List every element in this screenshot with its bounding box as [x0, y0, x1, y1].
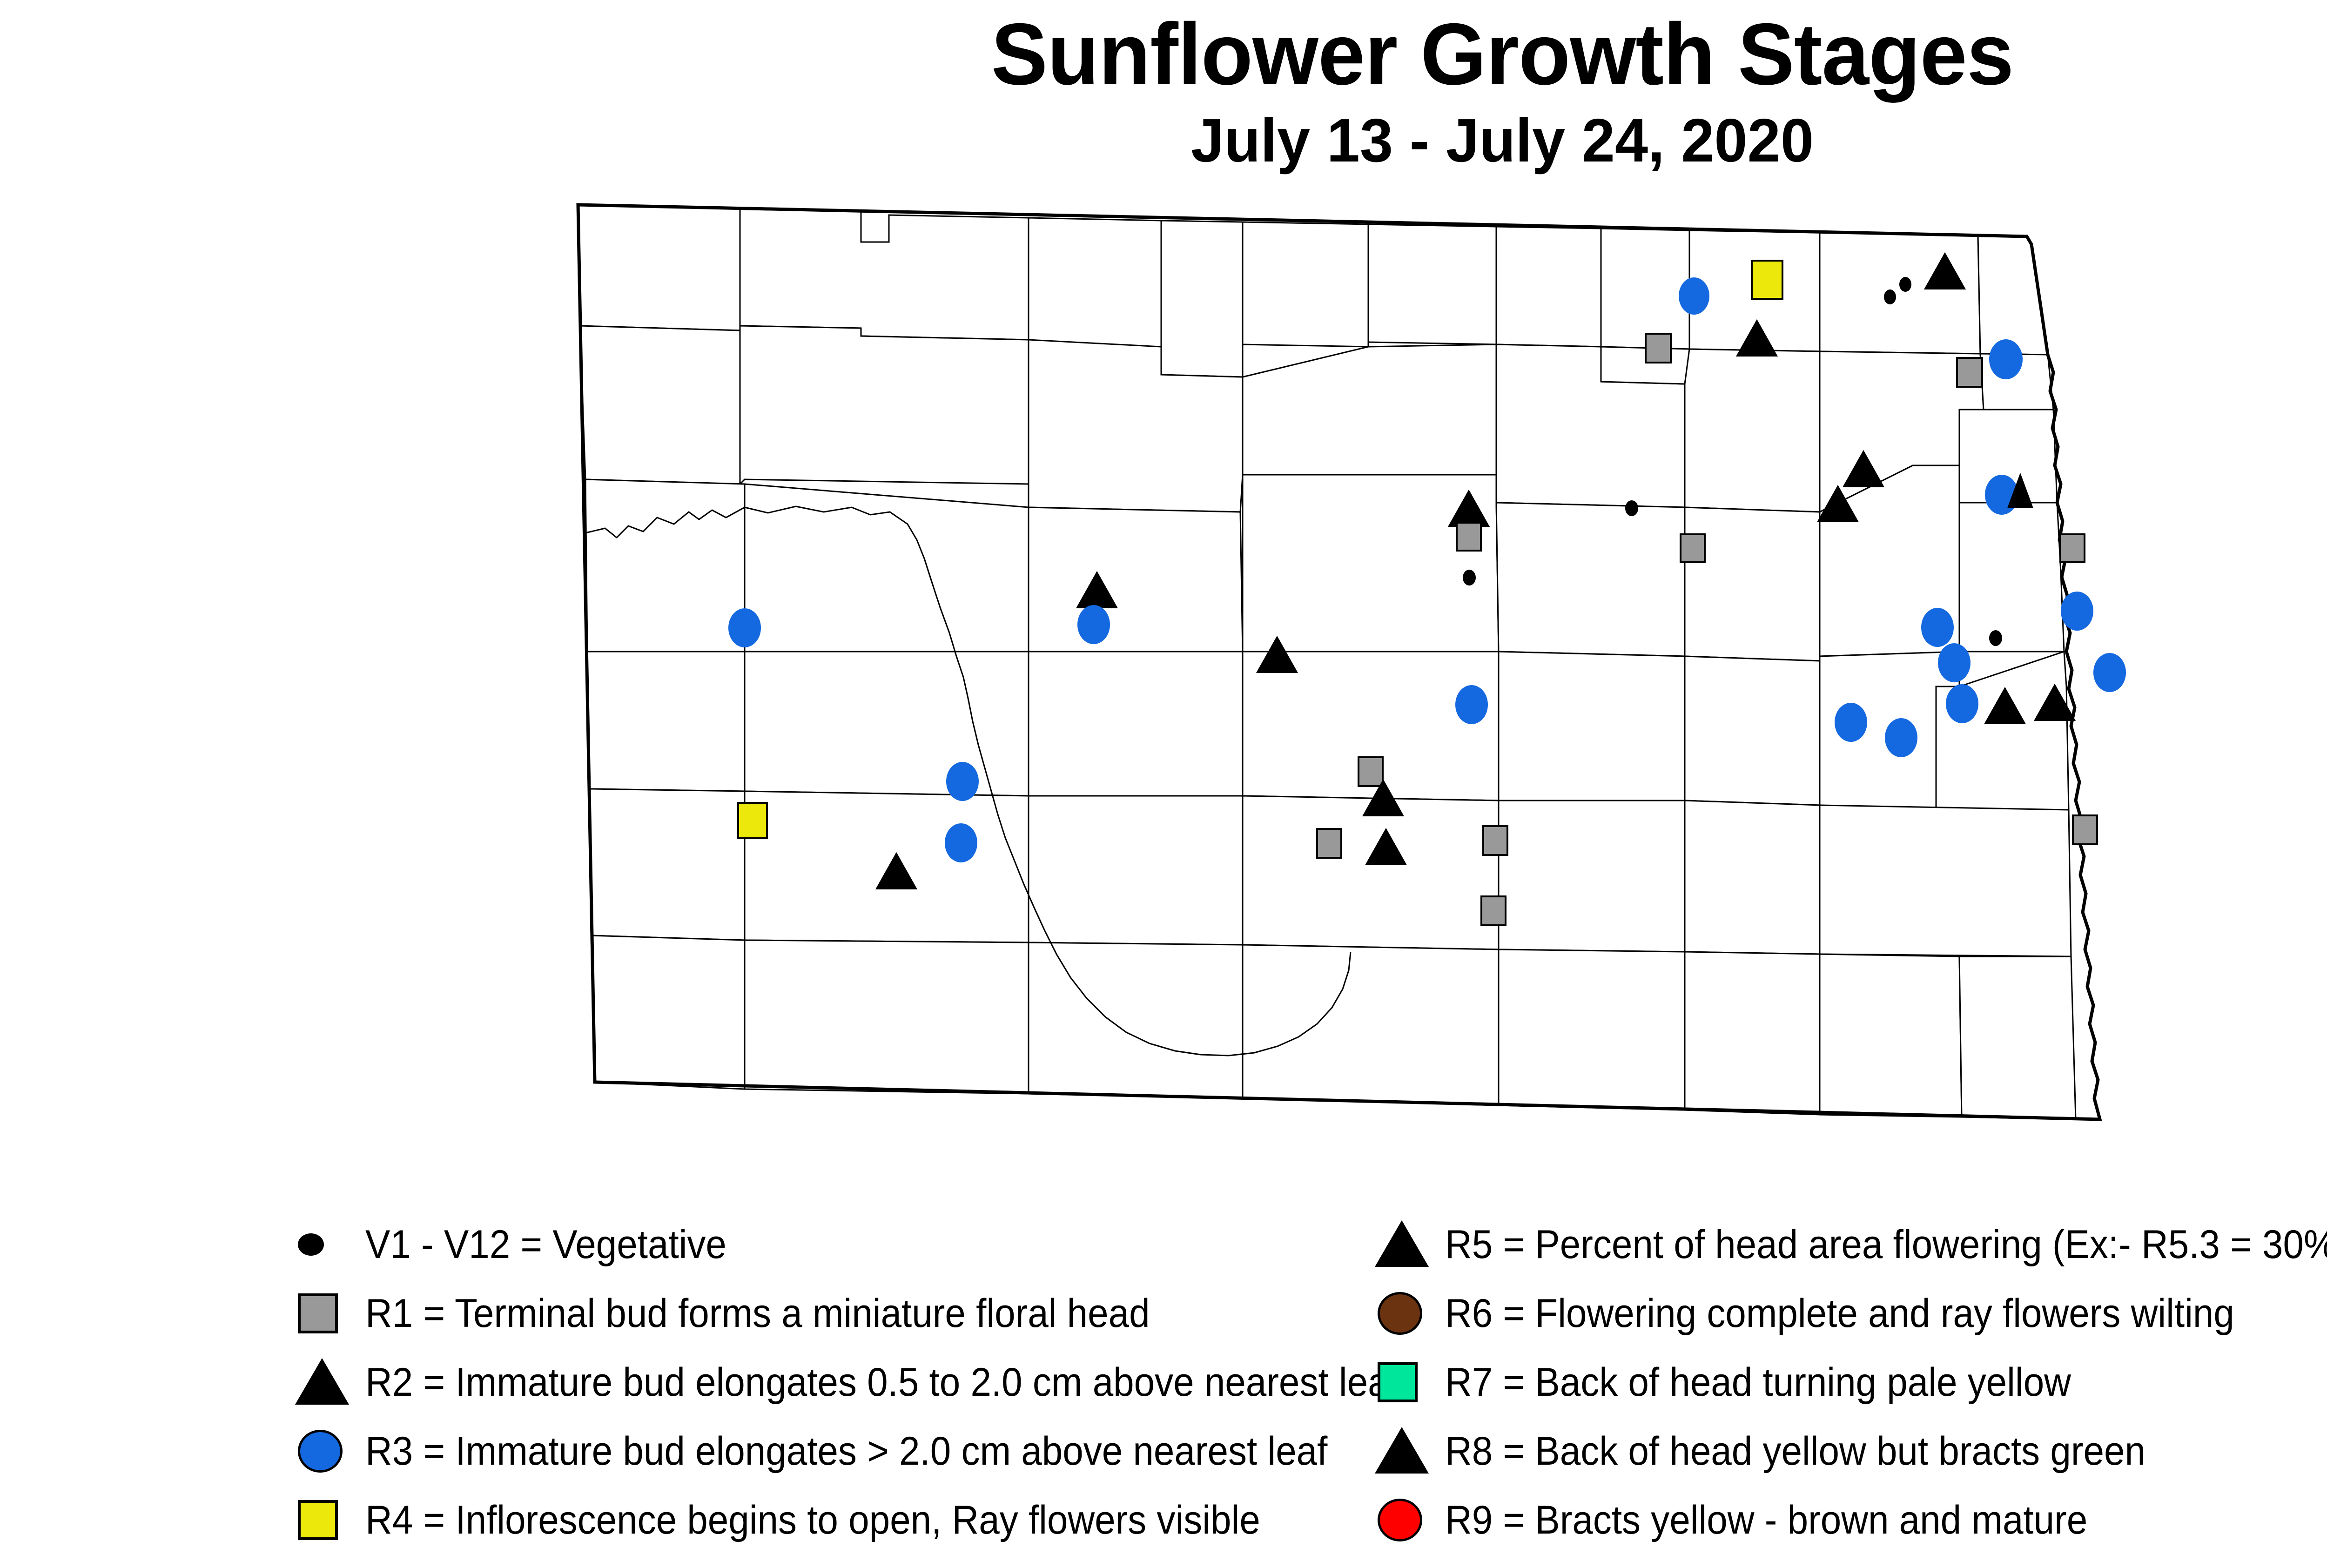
legend-row-r3: R3 = Immature bud elongates > 2.0 cm abo…: [298, 1417, 1415, 1486]
legend-marker-outline: [1375, 1220, 1429, 1267]
legend-marker-r5: [1378, 1223, 1426, 1266]
legend-row-r6: R6 = Flowering complete and ray flowers …: [1378, 1279, 2327, 1348]
legend-label-r4: R4 = Inflorescence begins to open, Ray f…: [365, 1500, 1260, 1540]
legend-marker-r4: [298, 1500, 338, 1540]
legend-label-r3: R3 = Immature bud elongates > 2.0 cm abo…: [365, 1431, 1327, 1471]
legend-marker-r7: [1378, 1362, 1418, 1402]
legend-row-r2: R2 = Immature bud elongates 0.5 to 2.0 c…: [298, 1348, 1415, 1417]
legend-label-r2: R2 = Immature bud elongates 0.5 to 2.0 c…: [365, 1362, 1399, 1402]
legend-label-r9: R9 = Bracts yellow - brown and mature: [1445, 1500, 2087, 1540]
map-page: Sunflower Growth Stages July 13 - July 2…: [0, 0, 2327, 1568]
legend-marker-outline: [1375, 1427, 1429, 1474]
county-boundaries: [578, 205, 2076, 1119]
legend-marker-r9: [1378, 1499, 1422, 1541]
legend-label-r1: R1 = Terminal bud forms a miniature flor…: [365, 1293, 1150, 1333]
legend: V1 - V12 = VegetativeR1 = Terminal bud f…: [0, 1210, 2327, 1564]
legend-marker-v: [298, 1233, 324, 1256]
map-svg: [535, 186, 2220, 1191]
legend-label-r7: R7 = Back of head turning pale yellow: [1445, 1362, 2071, 1402]
legend-marker-r1: [298, 1293, 338, 1333]
legend-row-r7: R7 = Back of head turning pale yellow: [1378, 1348, 2327, 1417]
legend-label-r5: R5 = Percent of head area flowering (Ex:…: [1445, 1225, 2327, 1265]
legend-marker-r6: [1378, 1292, 1422, 1335]
legend-row-r5: R5 = Percent of head area flowering (Ex:…: [1378, 1210, 2327, 1279]
legend-column-right: R5 = Percent of head area flowering (Ex:…: [1378, 1210, 2327, 1555]
legend-row-r1: R1 = Terminal bud forms a miniature flor…: [298, 1279, 1415, 1348]
page-title: Sunflower Growth Stages: [45, 10, 2327, 98]
page-subtitle: July 13 - July 24, 2020: [45, 110, 2327, 171]
legend-marker-r2: [298, 1361, 346, 1404]
legend-label-r8: R8 = Back of head yellow but bracts gree…: [1445, 1431, 2145, 1471]
legend-label-r6: R6 = Flowering complete and ray flowers …: [1445, 1293, 2234, 1333]
north-dakota-map[interactable]: [535, 186, 2220, 1191]
legend-row-v: V1 - V12 = Vegetative: [298, 1210, 1415, 1279]
legend-marker-r3: [298, 1430, 343, 1473]
legend-row-r4: R4 = Inflorescence begins to open, Ray f…: [298, 1486, 1415, 1555]
title-block: Sunflower Growth Stages July 13 - July 2…: [0, 0, 2327, 171]
legend-marker-r8: [1378, 1430, 1426, 1473]
legend-row-r8: R8 = Back of head yellow but bracts gree…: [1378, 1417, 2327, 1486]
legend-row-r9: R9 = Bracts yellow - brown and mature: [1378, 1486, 2327, 1555]
legend-column-left: V1 - V12 = VegetativeR1 = Terminal bud f…: [298, 1210, 1415, 1555]
legend-marker-outline: [295, 1358, 349, 1405]
legend-label-v: V1 - V12 = Vegetative: [365, 1225, 726, 1265]
